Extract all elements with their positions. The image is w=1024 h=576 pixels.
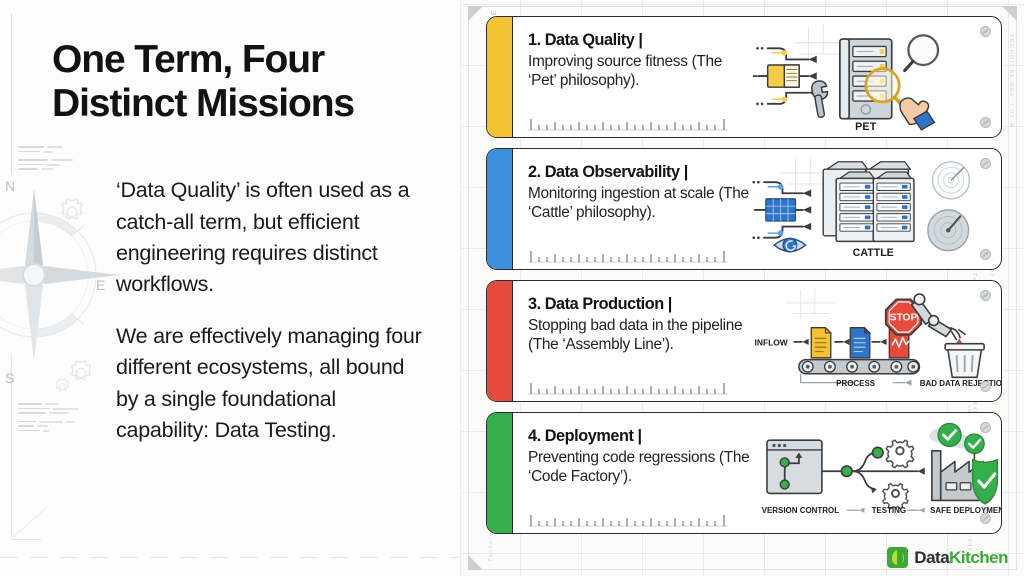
corner-fold-top-right (1002, 6, 1017, 21)
card-text: 3. Data Production | Stopping bad data i… (513, 281, 751, 401)
art-label-testing: TESTING (872, 506, 907, 515)
art-label-safe-deployment: SAFE DEPLOYMENT (930, 506, 1001, 515)
card-data-production[interactable]: 3. Data Production | Stopping bad data i… (486, 280, 1002, 402)
card-subtitle: Improving source fitness (The ‘Pet’ phil… (528, 52, 751, 91)
screw-icon-top-right (980, 158, 991, 169)
datakitchen-leaf-icon (887, 547, 908, 568)
corner-bracket (11, 510, 41, 540)
card-accent-bar-yellow (487, 17, 513, 137)
page-title: One Term, Four Distinct Missions (52, 38, 432, 125)
card-deployment[interactable]: 4. Deployment | Preventing code regressi… (486, 412, 1002, 534)
card-accent-bar-red (487, 281, 513, 401)
card-illustration-code-factory: VERSION CONTROL TESTING SAFE DEPLOYMENT (751, 413, 1001, 533)
card-subtitle: Stopping bad data in the pipeline (The ‘… (528, 316, 751, 355)
card-accent-bar-blue (487, 149, 513, 269)
card-body: 4. Deployment | Preventing code regressi… (513, 413, 1001, 533)
card-heading: 2. Data Observability | (528, 162, 751, 183)
left-content: One Term, Four Distinct Missions ‘Data Q… (0, 0, 460, 446)
paragraph-1: ‘Data Quality’ is often used as a catch-… (116, 175, 432, 301)
screw-icon-top-right (980, 290, 991, 301)
screw-icon-bottom-right (980, 513, 991, 524)
slide-root: N E S (0, 0, 1024, 576)
screw-icon-bottom-right (980, 117, 991, 128)
card-heading: 1. Data Quality | (528, 30, 751, 51)
art-label-inflow: INFLOW (755, 337, 788, 347)
mission-card-list: 1. Data Quality | Improving source fitne… (486, 16, 1002, 534)
card-text: 4. Deployment | Preventing code regressi… (513, 413, 751, 533)
card-text: 1. Data Quality | Improving source fitne… (513, 17, 751, 137)
paragraph-2: We are effectively managing four differe… (116, 321, 432, 447)
art-label-version-control: VERSION CONTROL (762, 506, 840, 515)
card-illustration-cattle: CATTLE (751, 149, 1001, 269)
card-heading: 3. Data Production | (528, 294, 751, 315)
art-label-cattle: CATTLE (853, 247, 894, 259)
art-label-process: PROCESS (836, 379, 875, 388)
art-label-stop: STOP (890, 313, 918, 324)
card-accent-bar-green (487, 413, 513, 533)
card-illustration-assembly-line: INFLOW (751, 281, 1001, 401)
right-pane: TECHNICAL FIELD GUIDE Technical_01B.DOC … (460, 0, 1024, 576)
screw-icon-top-right (980, 26, 991, 37)
card-body: 1. Data Quality | Improving source fitne… (513, 17, 1001, 137)
corner-fold-bottom-left (468, 555, 483, 570)
corner-fold-top-left (468, 6, 483, 21)
card-body: 3. Data Production | Stopping bad data i… (513, 281, 1001, 401)
logo-word-data: Data (914, 548, 949, 567)
screw-icon-bottom-right (980, 381, 991, 392)
card-heading: 4. Deployment | (528, 426, 751, 447)
datakitchen-wordmark: DataKitchen (914, 548, 1008, 568)
baseline-dashes (0, 557, 460, 558)
logo-word-kitchen: Kitchen (949, 548, 1008, 567)
card-subtitle: Monitoring ingestion at scale (The ‘Catt… (528, 184, 751, 223)
card-subtitle: Preventing code regressions (The ‘Code F… (528, 448, 751, 487)
card-data-quality[interactable]: 1. Data Quality | Improving source fitne… (486, 16, 1002, 138)
body-copy: ‘Data Quality’ is often used as a catch-… (116, 175, 432, 446)
corner-diagonal (13, 508, 46, 538)
card-data-observability[interactable]: 2. Data Observability | Monitoring inges… (486, 148, 1002, 270)
edge-label-right-1: TECHNICAL REF. / 01-A (1008, 34, 1014, 128)
card-body: 2. Data Observability | Monitoring inges… (513, 149, 1001, 269)
left-pane: N E S (0, 0, 460, 576)
screw-icon-bottom-right (980, 249, 991, 260)
datakitchen-logo: DataKitchen (887, 547, 1008, 568)
card-illustration-pet: PET (751, 17, 1001, 137)
screw-icon-top-right (980, 422, 991, 433)
art-label-pet: PET (855, 121, 877, 133)
card-text: 2. Data Observability | Monitoring inges… (513, 149, 751, 269)
